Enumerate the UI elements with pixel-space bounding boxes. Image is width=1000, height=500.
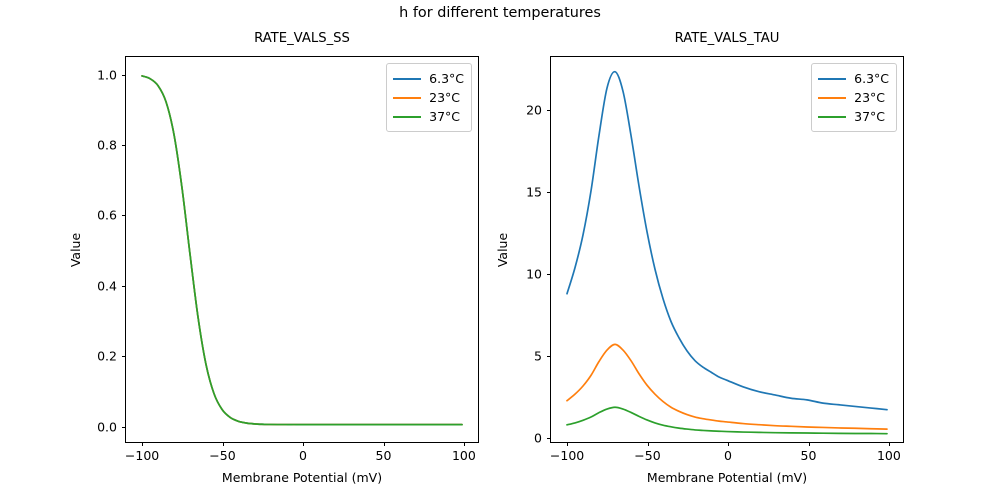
xtick-label: −100 xyxy=(125,448,159,463)
ylabel-tau: Value xyxy=(495,232,510,266)
ytick-label: 0.4 xyxy=(97,278,117,293)
xtick-label: −100 xyxy=(550,448,584,463)
ytick-mark xyxy=(122,286,126,287)
ytick-label: 0.2 xyxy=(97,349,117,364)
series-line-3 xyxy=(567,407,887,433)
xtick-label: −50 xyxy=(209,448,235,463)
xtick-label: −50 xyxy=(634,448,660,463)
xtick-mark xyxy=(648,442,649,446)
legend-entry[interactable]: 6.3°C xyxy=(818,69,889,88)
xtick-mark xyxy=(303,442,304,446)
xlabel-ss: Membrane Potential (mV) xyxy=(126,470,478,485)
xtick-mark xyxy=(223,442,224,446)
ytick-label: 10 xyxy=(526,266,542,281)
ytick-label: 0 xyxy=(534,430,542,445)
ytick-label: 5 xyxy=(534,348,542,363)
ytick-label: 20 xyxy=(526,102,542,117)
legend-entry[interactable]: 23°C xyxy=(818,88,889,107)
axes-title-tau: RATE_VALS_TAU xyxy=(551,31,903,46)
legend-label: 37°C xyxy=(429,109,460,124)
legend-tau[interactable]: 6.3°C23°C37°C xyxy=(811,63,897,132)
xtick-label: 0 xyxy=(724,448,732,463)
ytick-mark xyxy=(122,356,126,357)
xtick-mark xyxy=(142,442,143,446)
xtick-mark xyxy=(889,442,890,446)
ytick-label: 1.0 xyxy=(97,67,117,82)
ytick-mark xyxy=(122,427,126,428)
series-line-2 xyxy=(567,344,887,429)
ytick-mark xyxy=(122,215,126,216)
legend-entry[interactable]: 37°C xyxy=(393,107,464,126)
ytick-mark xyxy=(547,274,551,275)
xtick-label: 50 xyxy=(801,448,817,463)
legend-line-swatch xyxy=(818,97,846,99)
axes-rate-vals-tau: RATE_VALS_TAU −100−5005010005101520 Memb… xyxy=(550,56,904,443)
xtick-label: 100 xyxy=(877,448,901,463)
legend-line-swatch xyxy=(393,97,421,99)
ytick-mark xyxy=(547,356,551,357)
legend-ss[interactable]: 6.3°C23°C37°C xyxy=(386,63,472,132)
legend-entry[interactable]: 23°C xyxy=(393,88,464,107)
legend-label: 6.3°C xyxy=(854,71,889,86)
ytick-label: 15 xyxy=(526,184,542,199)
legend-label: 23°C xyxy=(429,90,460,105)
legend-label: 6.3°C xyxy=(429,71,464,86)
figure-suptitle: h for different temperatures xyxy=(0,5,1000,21)
ytick-mark xyxy=(547,110,551,111)
ytick-mark xyxy=(547,192,551,193)
matplotlib-figure: h for different temperatures RATE_VALS_S… xyxy=(0,0,1000,500)
xtick-label: 50 xyxy=(376,448,392,463)
xlabel-tau: Membrane Potential (mV) xyxy=(551,470,903,485)
legend-line-swatch xyxy=(393,78,421,80)
xtick-label: 100 xyxy=(452,448,476,463)
ytick-mark xyxy=(122,145,126,146)
axes-title-ss: RATE_VALS_SS xyxy=(126,31,478,46)
ytick-mark xyxy=(122,75,126,76)
xtick-mark xyxy=(464,442,465,446)
axes-rate-vals-ss: RATE_VALS_SS −100−500501000.00.20.40.60.… xyxy=(125,56,479,443)
xtick-mark xyxy=(567,442,568,446)
xtick-label: 0 xyxy=(299,448,307,463)
legend-line-swatch xyxy=(818,78,846,80)
legend-entry[interactable]: 37°C xyxy=(818,107,889,126)
xtick-mark xyxy=(809,442,810,446)
legend-line-swatch xyxy=(818,116,846,118)
legend-line-swatch xyxy=(393,116,421,118)
legend-entry[interactable]: 6.3°C xyxy=(393,69,464,88)
legend-label: 23°C xyxy=(854,90,885,105)
ytick-label: 0.0 xyxy=(97,419,117,434)
ytick-mark xyxy=(547,438,551,439)
xtick-mark xyxy=(384,442,385,446)
ylabel-ss: Value xyxy=(68,232,83,266)
ytick-label: 0.6 xyxy=(97,208,117,223)
legend-label: 37°C xyxy=(854,109,885,124)
xtick-mark xyxy=(728,442,729,446)
ytick-label: 0.8 xyxy=(97,137,117,152)
